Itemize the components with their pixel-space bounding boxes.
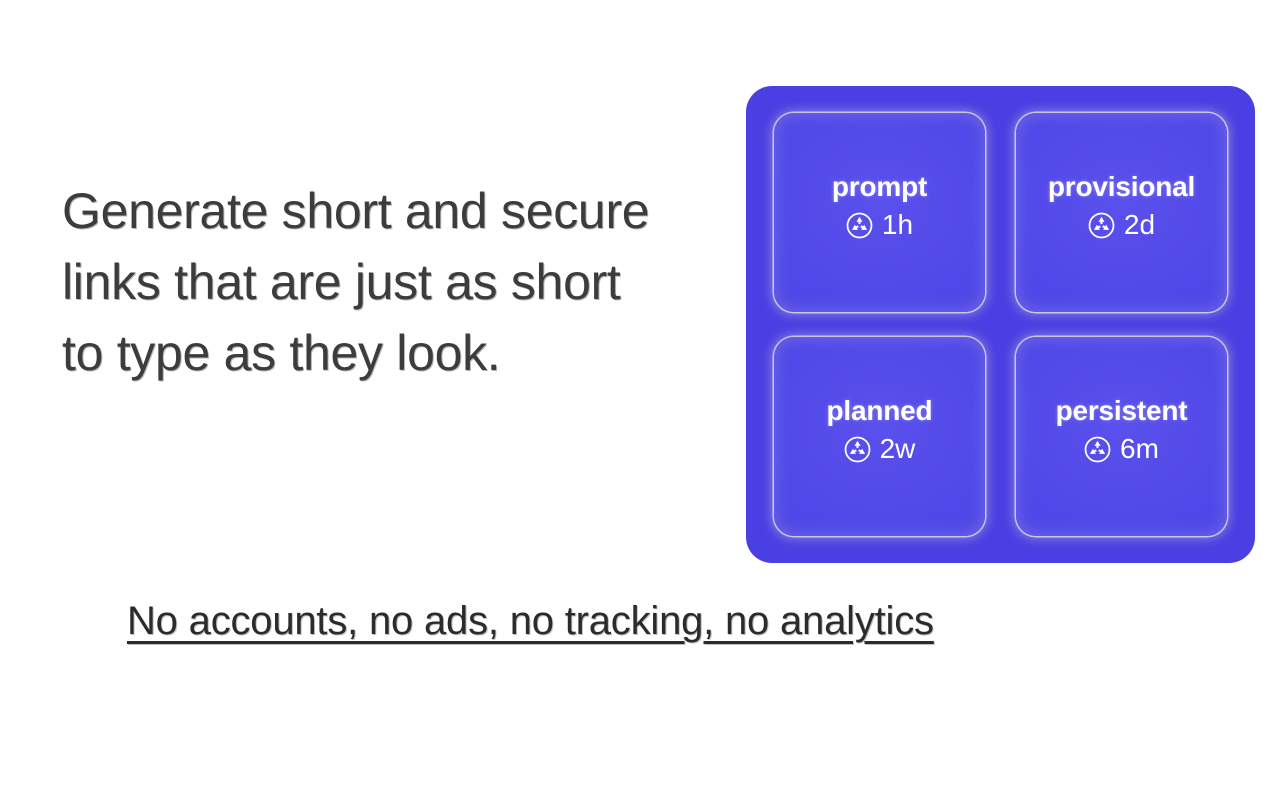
recycle-icon [844, 436, 871, 463]
recycle-icon [1084, 436, 1111, 463]
expiry-card-planned[interactable]: planned 2w [774, 337, 985, 536]
expiry-card-label: provisional [1048, 170, 1195, 203]
page-root: Generate short and secure links that are… [0, 0, 1280, 800]
expiry-card-prompt[interactable]: prompt 1h [774, 113, 985, 312]
recycle-icon [846, 212, 873, 239]
expiry-options-panel: prompt 1h provisional [746, 86, 1255, 563]
expiry-duration-text: 1h [882, 210, 913, 240]
expiry-card-duration: 1h [846, 210, 913, 240]
expiry-duration-text: 6m [1120, 434, 1159, 464]
recycle-icon [1088, 212, 1115, 239]
expiry-card-duration: 6m [1084, 434, 1159, 464]
page-headline: Generate short and secure links that are… [62, 176, 662, 389]
expiry-card-duration: 2w [844, 434, 916, 464]
privacy-tagline: No accounts, no ads, no tracking, no ana… [127, 597, 934, 645]
expiry-card-duration: 2d [1088, 210, 1155, 240]
expiry-card-label: prompt [832, 170, 927, 203]
expiry-card-label: persistent [1056, 394, 1188, 427]
expiry-duration-text: 2d [1124, 210, 1155, 240]
expiry-duration-text: 2w [880, 434, 916, 464]
expiry-card-provisional[interactable]: provisional 2d [1016, 113, 1227, 312]
expiry-card-label: planned [827, 394, 933, 427]
expiry-card-persistent[interactable]: persistent 6m [1016, 337, 1227, 536]
